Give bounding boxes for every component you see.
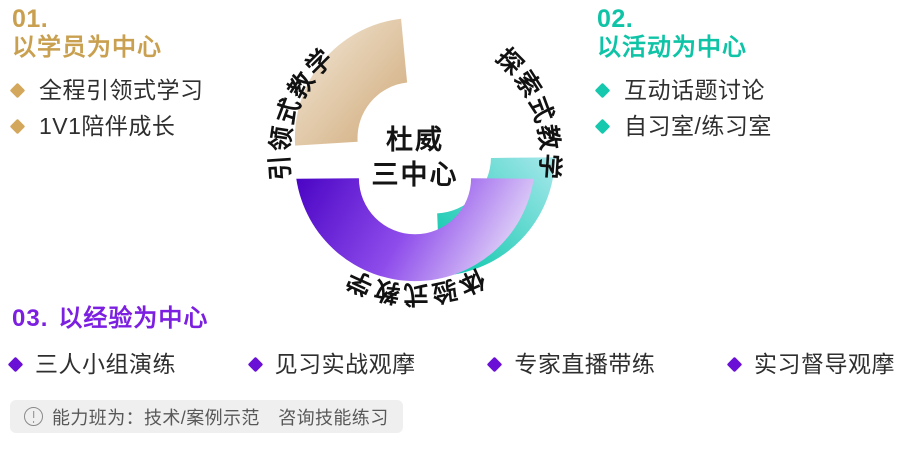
section-02-list: 互动话题讨论 自习室/练习室 xyxy=(597,79,887,138)
section-01-title: 以学员为中心 xyxy=(12,32,282,64)
list-item: 全程引领式学习 xyxy=(12,79,282,102)
list-item-label: 专家直播带练 xyxy=(514,353,655,376)
list-item: 自习室/练习室 xyxy=(597,115,887,138)
footnote-bar: 能力班为：技术/案例示范 咨询技能练习 xyxy=(10,400,403,433)
section-03-title: 以经验为中心 xyxy=(58,298,208,333)
list-item: 1V1陪伴成长 xyxy=(12,115,282,138)
list-item: 见习实战观摩 xyxy=(250,353,416,376)
list-item: 专家直播带练 xyxy=(489,353,655,376)
donut-center-line-1: 杜威 xyxy=(386,123,444,158)
footnote-text: 能力班为：技术/案例示范 咨询技能练习 xyxy=(52,404,389,430)
section-03-list: 三人小组演练 见习实战观摩 专家直播带练 实习督导观摩 xyxy=(10,353,895,376)
diamond-bullet-icon xyxy=(595,82,611,98)
diamond-bullet-icon xyxy=(727,357,743,373)
donut-center-label: 杜威 三中心 xyxy=(265,8,565,308)
section-01-number: 01. xyxy=(12,6,282,32)
section-03: 03. 以经验为中心 xyxy=(12,298,892,333)
diamond-bullet-icon xyxy=(487,357,503,373)
section-02-title: 以活动为中心 xyxy=(597,32,887,64)
list-item: 互动话题讨论 xyxy=(597,79,887,102)
donut-center-line-2: 三中心 xyxy=(372,158,459,193)
section-01-list: 全程引领式学习 1V1陪伴成长 xyxy=(12,79,282,138)
section-01: 01. 以学员为中心 全程引领式学习 1V1陪伴成长 xyxy=(12,6,282,151)
list-item-label: 互动话题讨论 xyxy=(624,79,765,102)
list-item-label: 1V1陪伴成长 xyxy=(39,115,175,138)
section-02-number: 02. xyxy=(597,6,887,32)
three-center-donut-diagram: 引领式教学 探索式教学 体验式教学 杜威 三中心 xyxy=(265,8,565,308)
section-02: 02. 以活动为中心 互动话题讨论 自习室/练习室 xyxy=(597,6,887,151)
list-item-label: 全程引领式学习 xyxy=(39,79,204,102)
list-item-label: 自习室/练习室 xyxy=(624,115,772,138)
list-item: 实习督导观摩 xyxy=(729,353,895,376)
list-item-label: 见习实战观摩 xyxy=(275,353,416,376)
section-03-heading: 03. 以经验为中心 xyxy=(12,298,892,333)
list-item-label: 实习督导观摩 xyxy=(754,353,895,376)
section-03-number: 03. xyxy=(12,305,48,333)
list-item-label: 三人小组演练 xyxy=(35,353,176,376)
exclamation-circle-icon xyxy=(24,407,43,426)
list-item: 三人小组演练 xyxy=(10,353,176,376)
diamond-bullet-icon xyxy=(247,357,263,373)
diamond-bullet-icon xyxy=(595,118,611,134)
diamond-bullet-icon xyxy=(10,82,26,98)
diamond-bullet-icon xyxy=(8,357,24,373)
diamond-bullet-icon xyxy=(10,118,26,134)
